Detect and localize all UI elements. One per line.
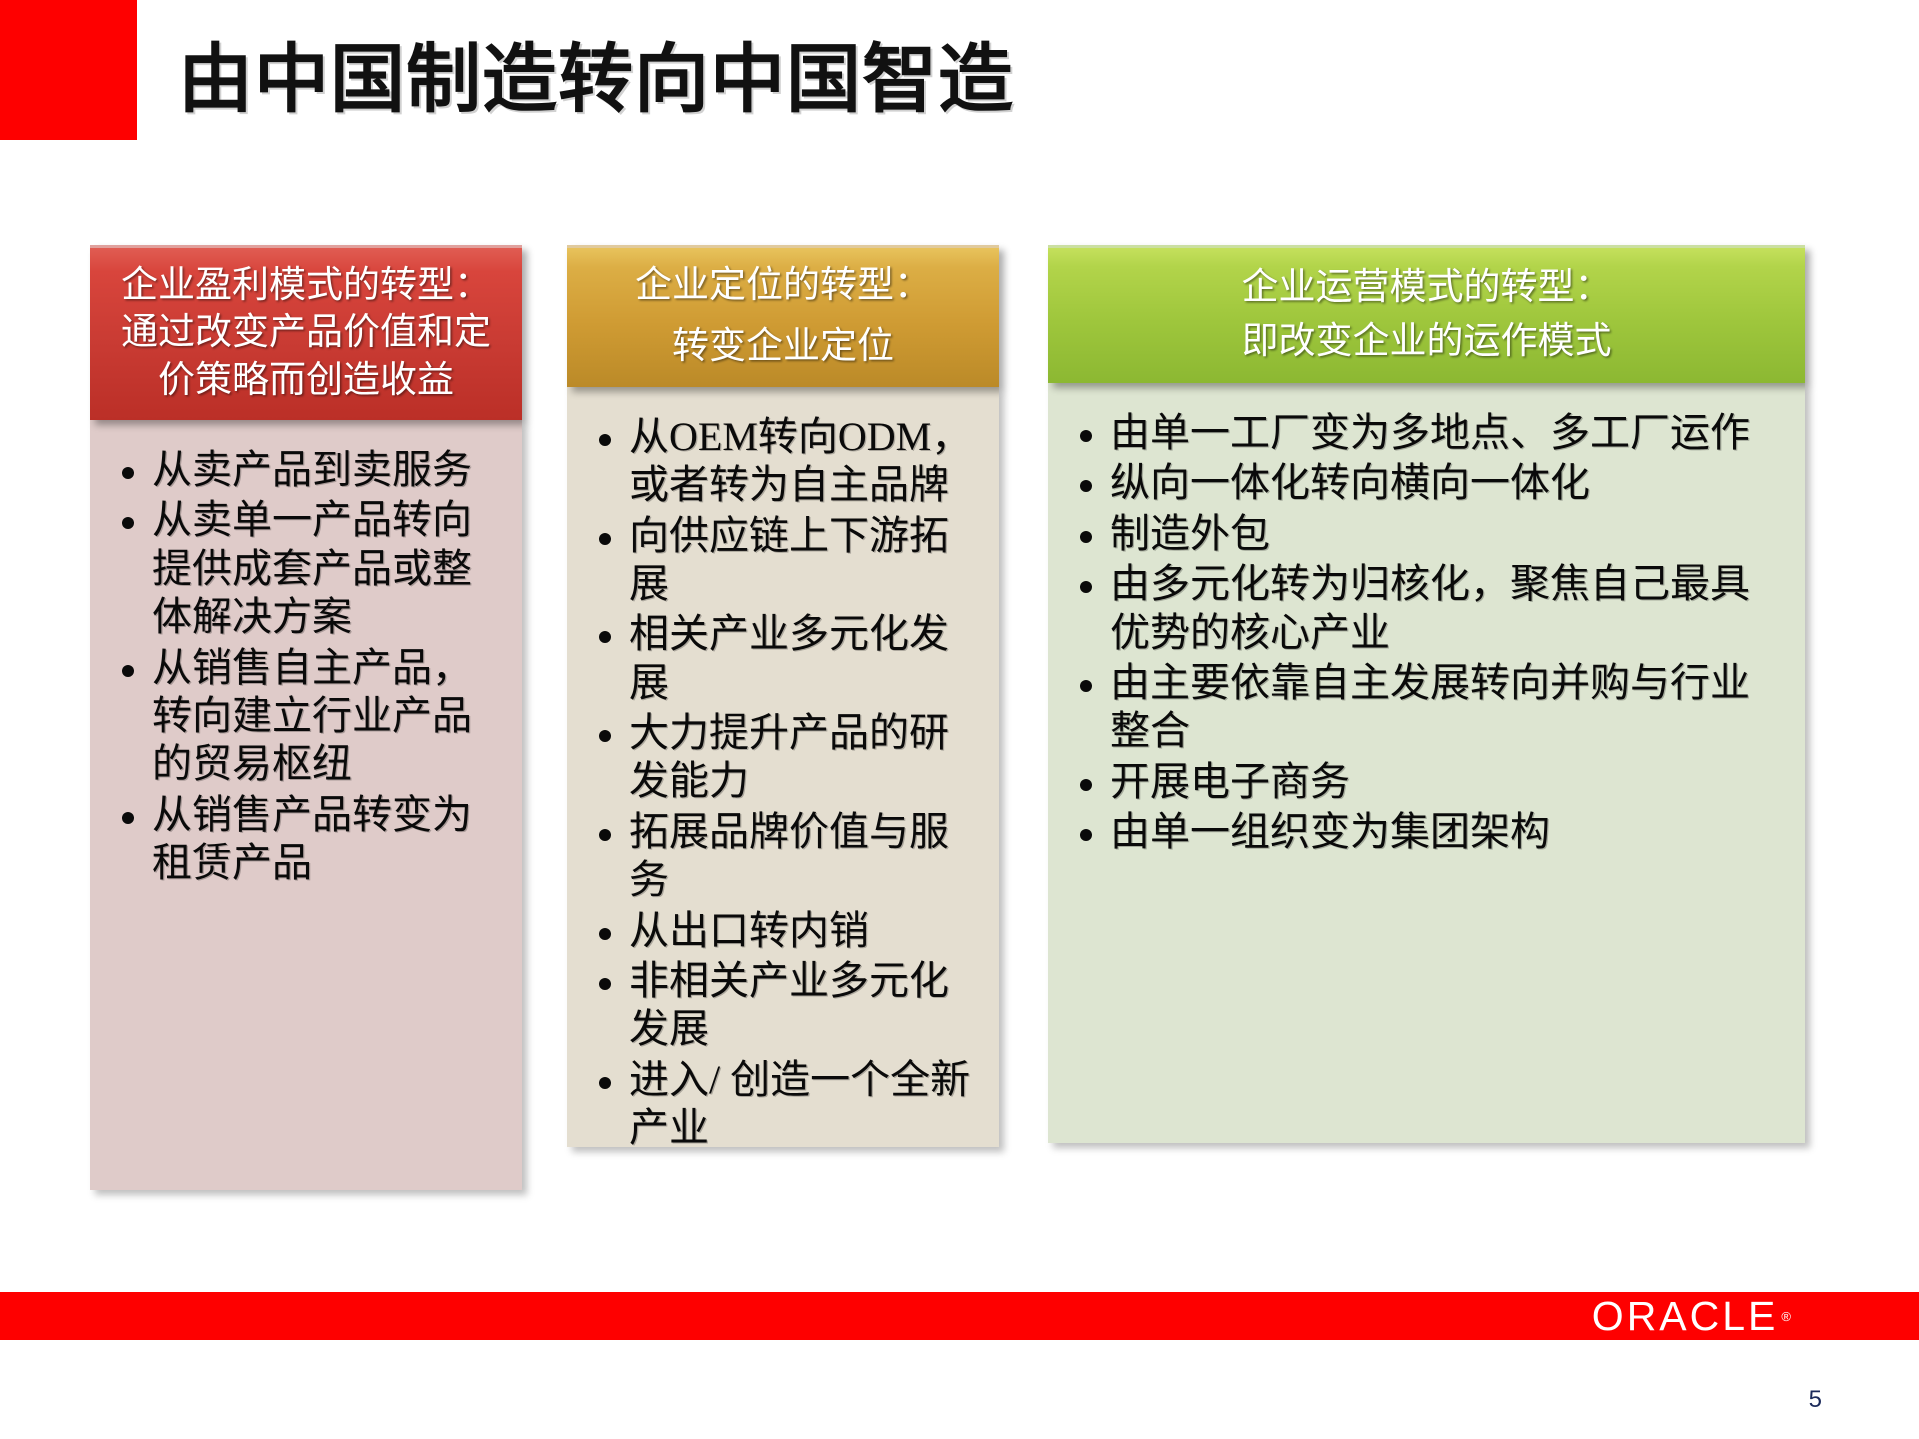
column-positioning: 企业定位的转型： 转变企业定位 从OEM转向ODM，或者转为自主品牌 向供应链上… (567, 245, 999, 1147)
column-header-profit-model: 企业盈利模式的转型： 通过改变产品价值和定 价策略而创造收益 (90, 245, 522, 420)
list-item: 从销售产品转变为租赁产品 (100, 791, 504, 888)
list-item: 相关产业多元化发展 (577, 610, 981, 707)
list-item: 拓展品牌价值与服务 (577, 808, 981, 905)
list-item: 从卖单一产品转向提供成套产品或整体解决方案 (100, 496, 504, 641)
list-item: 大力提升产品的研发能力 (577, 709, 981, 806)
list-item: 非相关产业多元化发展 (577, 957, 981, 1054)
list-item: 由单一组织变为集团架构 (1058, 808, 1787, 856)
list-item: 纵向一体化转向横向一体化 (1058, 459, 1787, 507)
column-body-operating-model: 由单一工厂变为多地点、多工厂运作 纵向一体化转向横向一体化 制造外包 由多元化转… (1048, 383, 1805, 1143)
header-line: 转变企业定位 (583, 323, 983, 370)
header-line: 企业运营模式的转型： (1064, 264, 1789, 311)
list-item: 从OEM转向ODM，或者转为自主品牌 (577, 413, 981, 510)
column-header-positioning: 企业定位的转型： 转变企业定位 (567, 245, 999, 387)
bullet-list-operating-model: 由单一工厂变为多地点、多工厂运作 纵向一体化转向横向一体化 制造外包 由多元化转… (1058, 409, 1787, 857)
column-body-profit-model: 从卖产品到卖服务 从卖单一产品转向提供成套产品或整体解决方案 从销售自主产品，转… (90, 420, 522, 1190)
list-item: 向供应链上下游拓展 (577, 512, 981, 609)
column-profit-model: 企业盈利模式的转型： 通过改变产品价值和定 价策略而创造收益 从卖产品到卖服务 … (90, 245, 522, 1190)
list-item: 开展电子商务 (1058, 758, 1787, 806)
page-number: 5 (1809, 1386, 1822, 1414)
list-item: 由单一工厂变为多地点、多工厂运作 (1058, 409, 1787, 457)
bullet-list-profit-model: 从卖产品到卖服务 从卖单一产品转向提供成套产品或整体解决方案 从销售自主产品，转… (100, 446, 504, 888)
header-line: 企业盈利模式的转型： (106, 262, 506, 309)
registered-mark-icon: ® (1781, 1309, 1791, 1324)
title-accent-block (0, 0, 137, 140)
list-item: 由多元化转为归核化，聚焦自己最具优势的核心产业 (1058, 560, 1787, 657)
list-item: 由主要依靠自主发展转向并购与行业整合 (1058, 659, 1787, 756)
header-line: 价策略而创造收益 (106, 357, 506, 404)
list-item: 制造外包 (1058, 510, 1787, 558)
slide: 由中国制造转向中国智造 企业盈利模式的转型： 通过改变产品价值和定 价策略而创造… (0, 0, 1919, 1439)
list-item: 进入/ 创造一个全新产业 (577, 1056, 981, 1153)
list-item: 从销售自主产品，转向建立行业产品的贸易枢纽 (100, 644, 504, 789)
oracle-wordmark: ORACLE (1592, 1293, 1779, 1340)
column-body-positioning: 从OEM转向ODM，或者转为自主品牌 向供应链上下游拓展 相关产业多元化发展 大… (567, 387, 999, 1147)
header-line: 通过改变产品价值和定 (106, 309, 506, 356)
page-title: 由中国制造转向中国智造 (178, 38, 1014, 121)
column-header-operating-model: 企业运营模式的转型： 即改变企业的运作模式 (1048, 245, 1805, 383)
list-item: 从卖产品到卖服务 (100, 446, 504, 494)
list-item: 从出口转内销 (577, 907, 981, 955)
header-line: 企业定位的转型： (583, 262, 983, 309)
bullet-list-positioning: 从OEM转向ODM，或者转为自主品牌 向供应链上下游拓展 相关产业多元化发展 大… (577, 413, 981, 1153)
column-operating-model: 企业运营模式的转型： 即改变企业的运作模式 由单一工厂变为多地点、多工厂运作 纵… (1048, 245, 1805, 1143)
header-line: 即改变企业的运作模式 (1064, 318, 1789, 365)
oracle-logo: ORACLE® (1592, 1293, 1791, 1339)
